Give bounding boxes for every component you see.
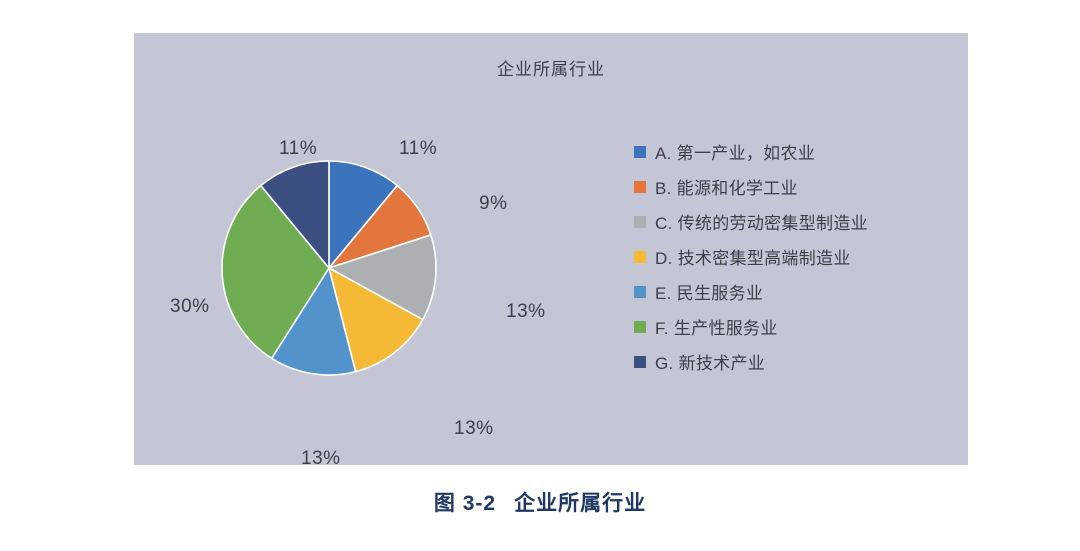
figure-caption: 图 3-2企业所属行业 xyxy=(0,487,1080,517)
legend-item-label: D. 技术密集型高端制造业 xyxy=(655,244,851,269)
legend-swatch-icon xyxy=(634,216,646,228)
chart-title: 企业所属行业 xyxy=(134,55,968,80)
figure-container: 企业所属行业 11%9%13%13%13%30%11% A. 第一产业，如农业B… xyxy=(0,0,1080,551)
pie-data-label: 13% xyxy=(301,448,341,470)
legend-item-label: C. 传统的劳动密集型制造业 xyxy=(655,209,868,234)
pie-data-label: 13% xyxy=(454,418,494,440)
legend-item-label: B. 能源和化学工业 xyxy=(655,174,798,199)
legend-item-e[interactable]: E. 民生服务业 xyxy=(634,274,964,309)
legend-item-label: A. 第一产业，如农业 xyxy=(655,139,815,164)
caption-number: 图 3-2 xyxy=(434,492,496,515)
legend-item-d[interactable]: D. 技术密集型高端制造业 xyxy=(634,239,964,274)
pie-data-label: 9% xyxy=(479,193,507,215)
legend-swatch-icon xyxy=(634,321,646,333)
legend-swatch-icon xyxy=(634,356,646,368)
pie-chart xyxy=(219,158,439,378)
pie-data-label: 11% xyxy=(279,138,317,160)
legend-item-f[interactable]: F. 生产性服务业 xyxy=(634,309,964,344)
pie-slice-group xyxy=(222,161,436,375)
chart-legend: A. 第一产业，如农业B. 能源和化学工业C. 传统的劳动密集型制造业D. 技术… xyxy=(634,134,964,379)
pie-data-label: 30% xyxy=(170,296,210,318)
pie-data-label: 11% xyxy=(399,138,437,160)
legend-swatch-icon xyxy=(634,251,646,263)
legend-item-b[interactable]: B. 能源和化学工业 xyxy=(634,169,964,204)
legend-item-a[interactable]: A. 第一产业，如农业 xyxy=(634,134,964,169)
legend-item-label: F. 生产性服务业 xyxy=(655,314,778,339)
caption-text: 企业所属行业 xyxy=(514,492,646,515)
pie-data-label: 13% xyxy=(506,301,546,323)
legend-item-c[interactable]: C. 传统的劳动密集型制造业 xyxy=(634,204,964,239)
chart-panel: 企业所属行业 11%9%13%13%13%30%11% A. 第一产业，如农业B… xyxy=(134,33,968,465)
pie-svg xyxy=(219,158,439,378)
legend-item-label: G. 新技术产业 xyxy=(655,349,765,374)
legend-item-label: E. 民生服务业 xyxy=(655,279,763,304)
legend-swatch-icon xyxy=(634,181,646,193)
legend-swatch-icon xyxy=(634,146,646,158)
legend-swatch-icon xyxy=(634,286,646,298)
legend-item-g[interactable]: G. 新技术产业 xyxy=(634,344,964,379)
